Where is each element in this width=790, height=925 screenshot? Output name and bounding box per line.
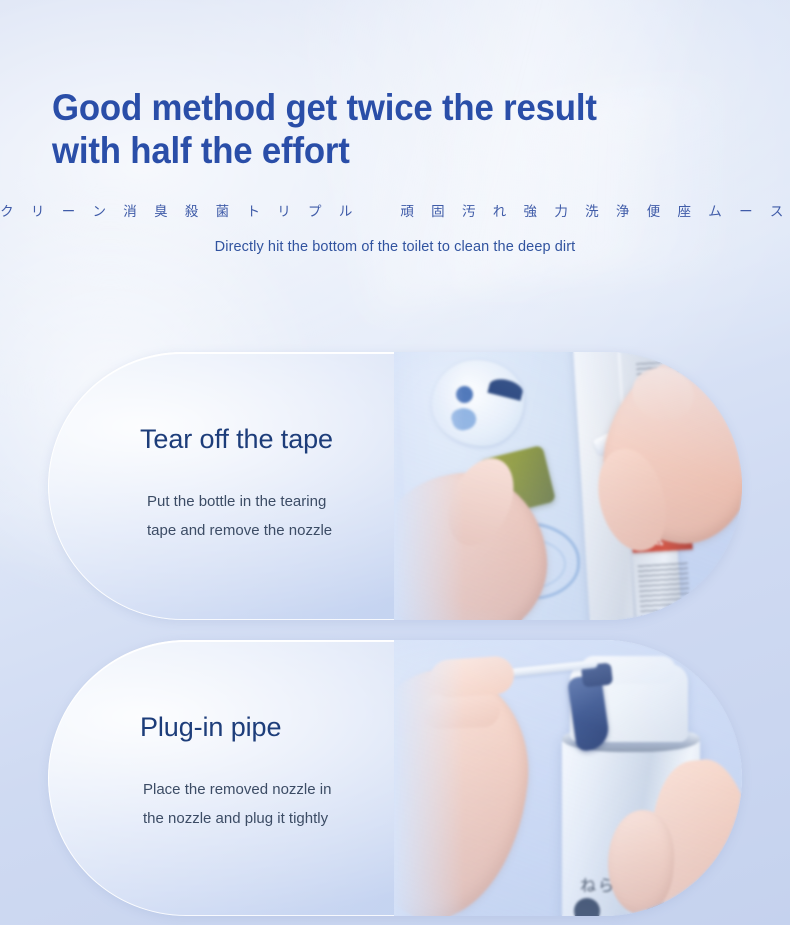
mascot-face-shape — [432, 360, 524, 446]
step-1-photo: 火気 Jiuyi — [394, 352, 742, 620]
page-headline: Good method get twice the result with ha… — [52, 86, 710, 173]
mascot-eye-shape — [456, 386, 473, 403]
subtitle-english: Directly hit the bottom of the toilet to… — [0, 239, 790, 255]
step-card-plug-in-pipe: ねらって パッ Plug-in pipe Place the removed n… — [48, 640, 742, 916]
step-2-photo: ねらって パッ — [394, 640, 742, 916]
step-2-description: Place the removed nozzle in the nozzle a… — [140, 775, 440, 834]
can-text-block-bottom — [638, 563, 693, 620]
subtitle-japanese: ク リ ー ン 消 臭 殺 菌 ト リ プ ル 頑 固 汚 れ 強 力 洗 浄 … — [0, 200, 790, 220]
step-2-title: Plug-in pipe — [140, 712, 440, 743]
step-2-text-block: Plug-in pipe Place the removed nozzle in… — [140, 712, 440, 834]
step-2-photo-backdrop: ねらって パッ — [394, 640, 742, 916]
step-1-text-block: Tear off the tape Put the bottle in the … — [140, 424, 440, 546]
step-1-title: Tear off the tape — [140, 424, 440, 455]
step-card-tear-off-the-tape: 火気 Jiuyi Tear off the tape Put the bottl… — [48, 352, 742, 620]
step-1-description: Put the bottle in the tearing tape and r… — [140, 487, 440, 546]
left-hand-index-finger-shape — [429, 655, 515, 699]
product-instruction-page: Good method get twice the result with ha… — [0, 0, 790, 925]
step-1-photo-backdrop: 火気 Jiuyi — [394, 352, 742, 620]
